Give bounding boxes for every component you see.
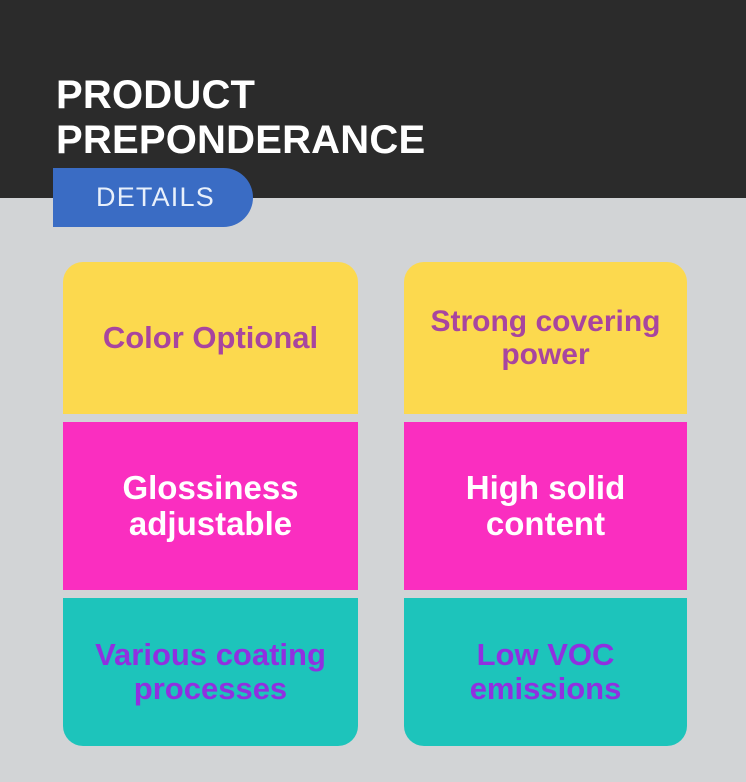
feature-cards-area: Color Optional Glossiness adjustable Var… [0, 198, 746, 782]
feature-card-left: Color Optional Glossiness adjustable Var… [63, 262, 358, 746]
feature-panel-strong-covering-power[interactable]: Strong covering power [404, 262, 687, 414]
page-title: PRODUCT PREPONDERANCE [56, 73, 696, 163]
feature-panel-glossiness-adjustable[interactable]: Glossiness adjustable [63, 422, 358, 590]
feature-panel-label: Strong covering power [430, 305, 660, 371]
slide-root: PRODUCT PREPONDERANCE DETAILS Color Opti… [0, 0, 746, 782]
feature-panel-high-solid-content[interactable]: High solid content [404, 422, 687, 590]
feature-panel-various-coating-processes[interactable]: Various coating processes [63, 598, 358, 746]
feature-panel-label: Low VOC emissions [470, 638, 622, 706]
feature-panel-label: Various coating processes [95, 638, 326, 706]
feature-panel-label: Glossiness adjustable [122, 470, 298, 543]
feature-panel-low-voc-emissions[interactable]: Low VOC emissions [404, 598, 687, 746]
feature-panel-label: Color Optional [103, 321, 318, 355]
feature-panel-label: High solid content [466, 470, 626, 543]
feature-card-right: Strong covering power High solid content… [404, 262, 687, 746]
feature-panel-color-optional[interactable]: Color Optional [63, 262, 358, 414]
